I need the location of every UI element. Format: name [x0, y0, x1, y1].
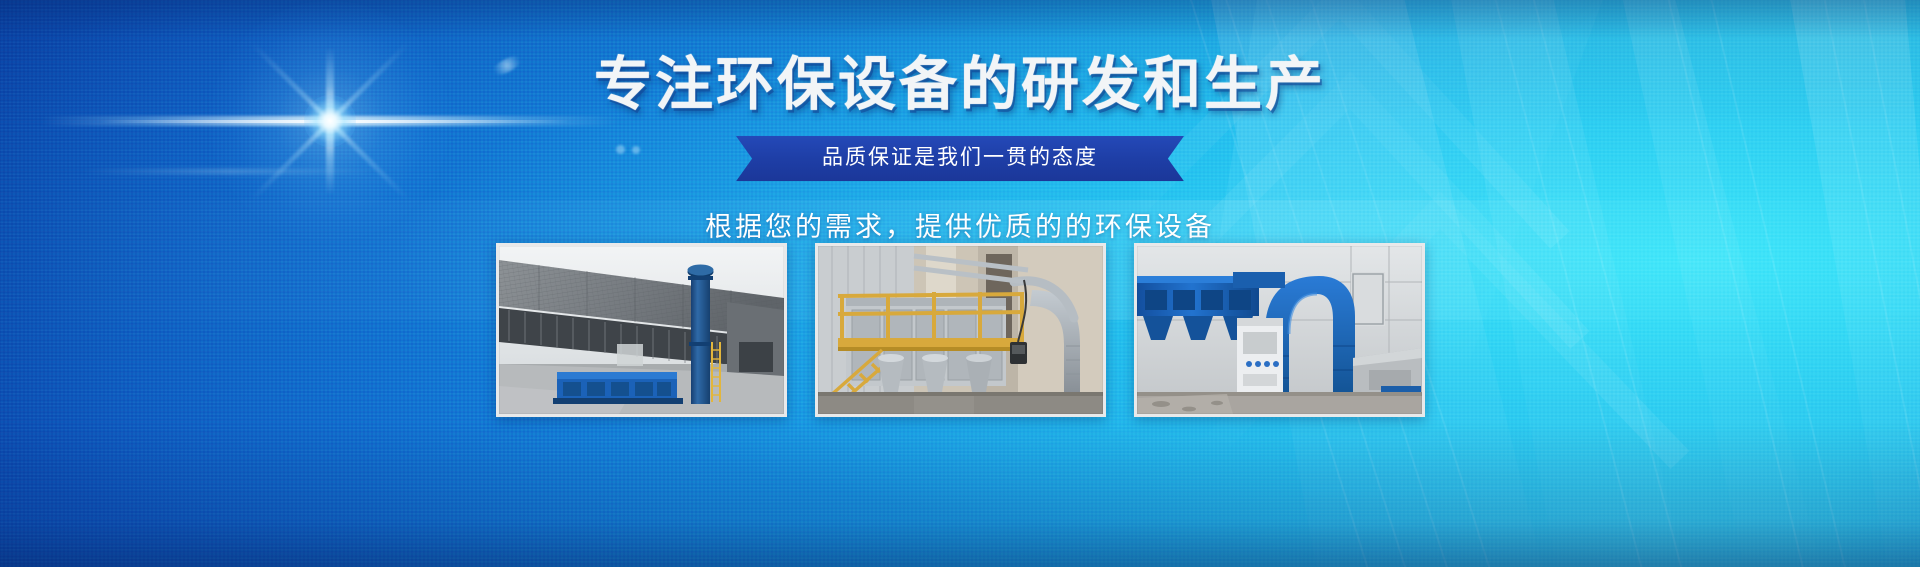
photo-workshop-exterior-with-stack[interactable] — [496, 243, 787, 417]
ribbon-row: 品质保证是我们一贯的态度 — [0, 136, 1920, 181]
hero-banner: 专注环保设备的研发和生产 品质保证是我们一贯的态度 根据您的需求，提供优质的的环… — [0, 0, 1920, 567]
photo-catalytic-combustion-unit-platform[interactable] — [815, 243, 1106, 417]
photo-dust-collector-with-blue-ducting[interactable] — [1134, 243, 1425, 417]
banner-headline: 专注环保设备的研发和生产 — [0, 56, 1920, 114]
banner-copy: 专注环保设备的研发和生产 品质保证是我们一贯的态度 根据您的需求，提供优质的的环… — [0, 56, 1920, 244]
banner-tagline: 根据您的需求，提供优质的的环保设备 — [0, 205, 1920, 244]
photo-strip — [0, 243, 1920, 417]
banner-ribbon-badge: 品质保证是我们一贯的态度 — [736, 136, 1184, 181]
